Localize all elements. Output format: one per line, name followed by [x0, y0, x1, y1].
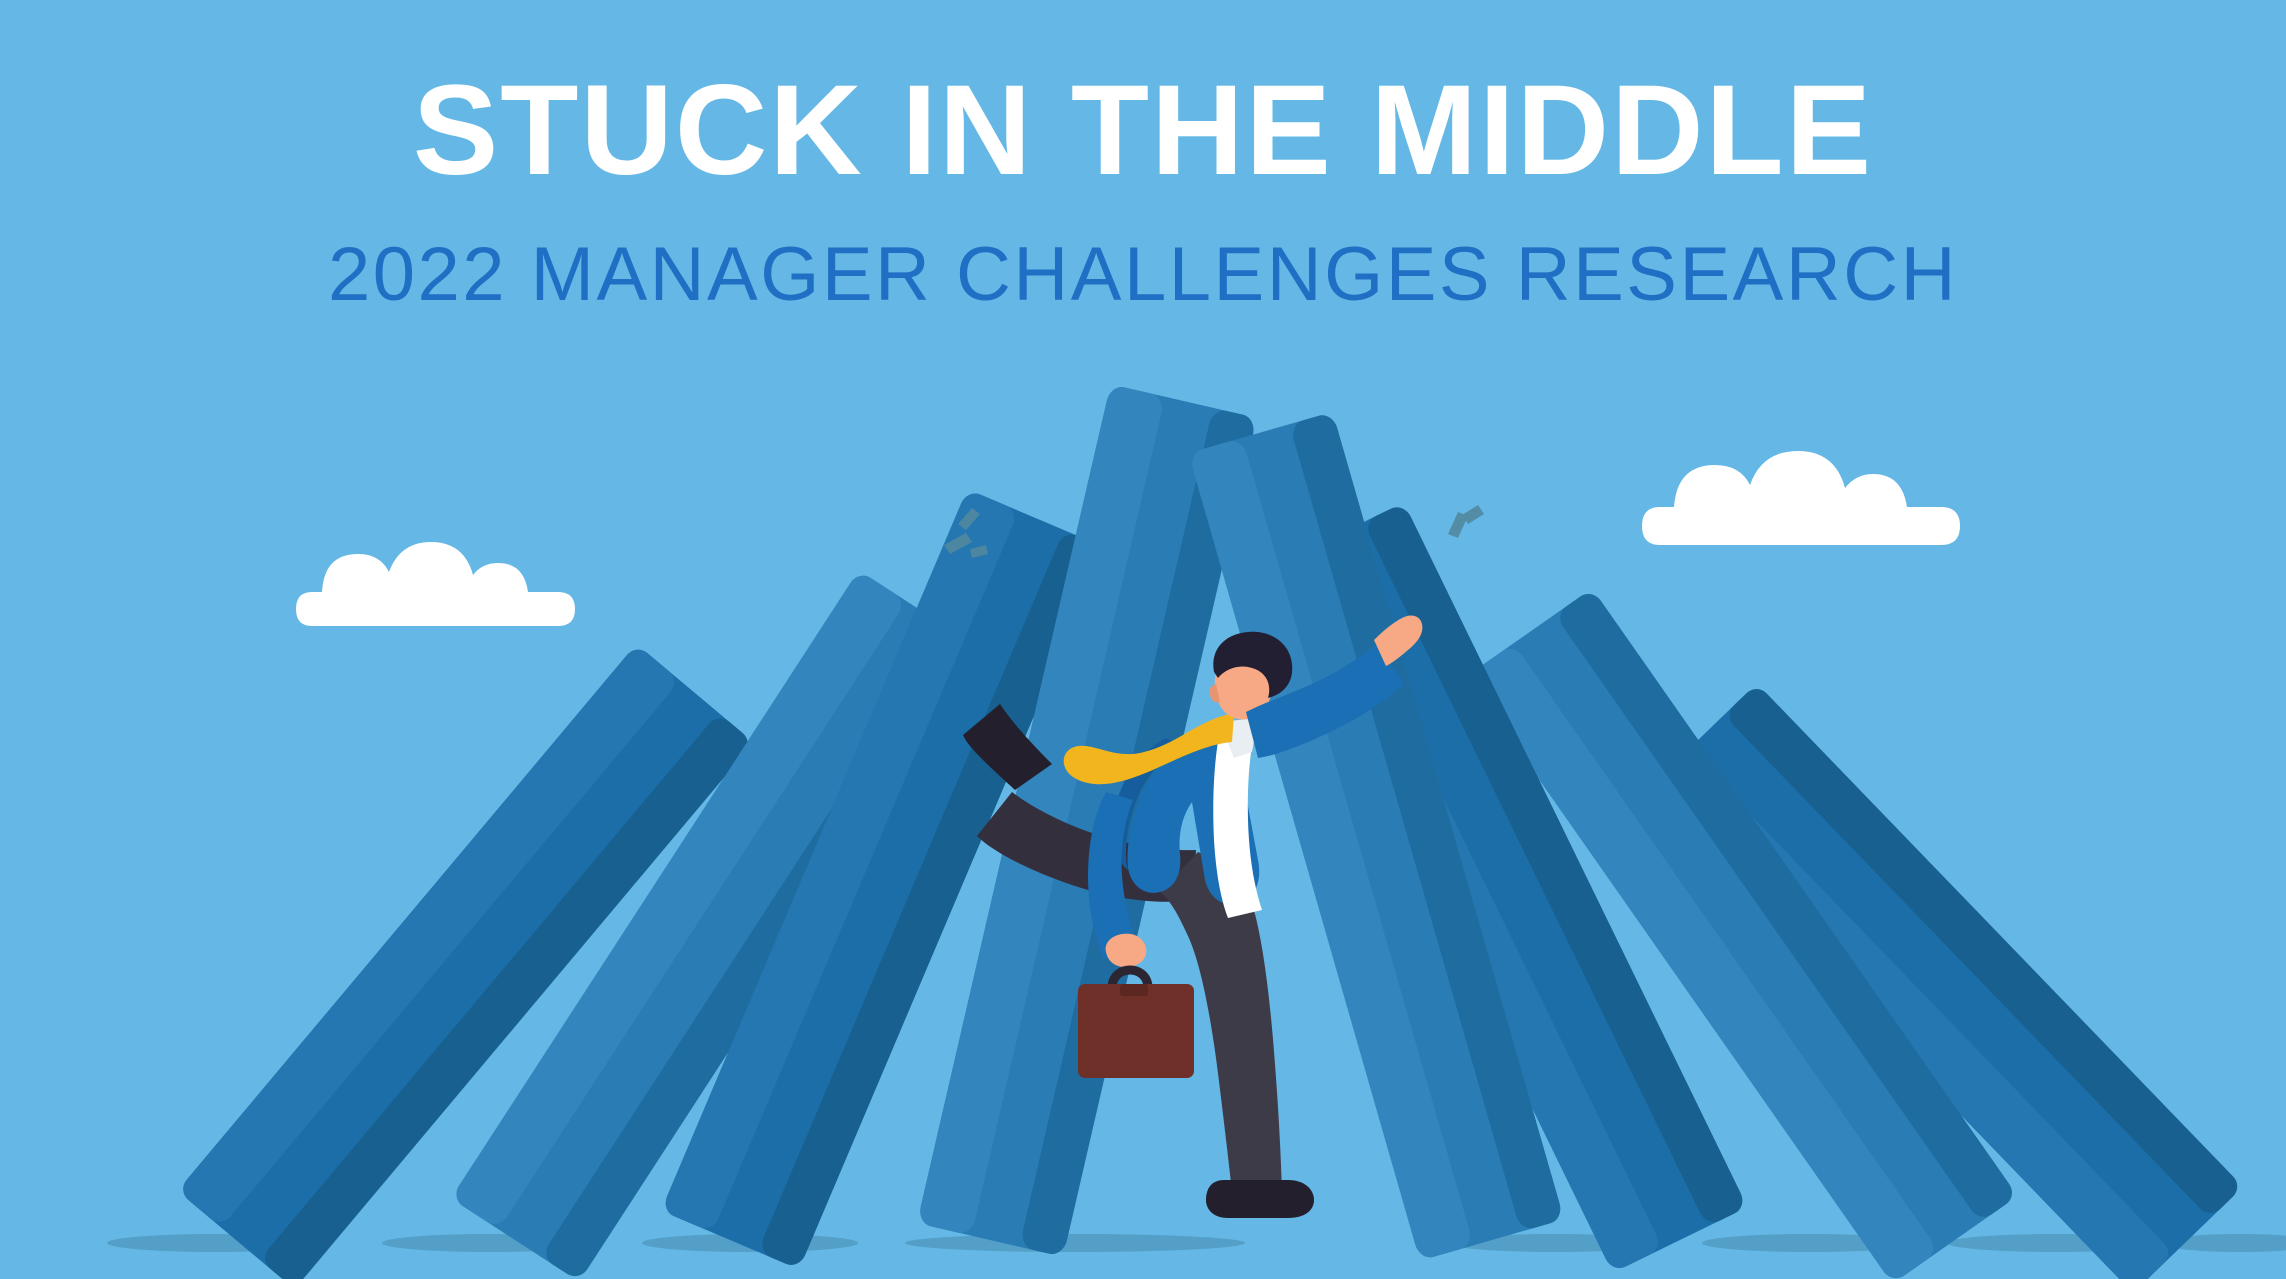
briefcase: [1078, 970, 1194, 1078]
briefcase-clasp: [1120, 984, 1148, 996]
ground-shadow: [905, 1234, 1245, 1252]
poster-canvas: STUCK IN THE MIDDLE 2022 MANAGER CHALLEN…: [0, 0, 2286, 1279]
page-subtitle: 2022 MANAGER CHALLENGES RESEARCH: [0, 197, 2286, 315]
headline-block: STUCK IN THE MIDDLE 2022 MANAGER CHALLEN…: [0, 0, 2286, 314]
page-title: STUCK IN THE MIDDLE: [0, 0, 2286, 197]
businessman-standing-shoe: [1206, 1180, 1314, 1218]
briefcase-body: [1078, 984, 1194, 1078]
businessman-briefcase-hand: [1106, 934, 1147, 967]
